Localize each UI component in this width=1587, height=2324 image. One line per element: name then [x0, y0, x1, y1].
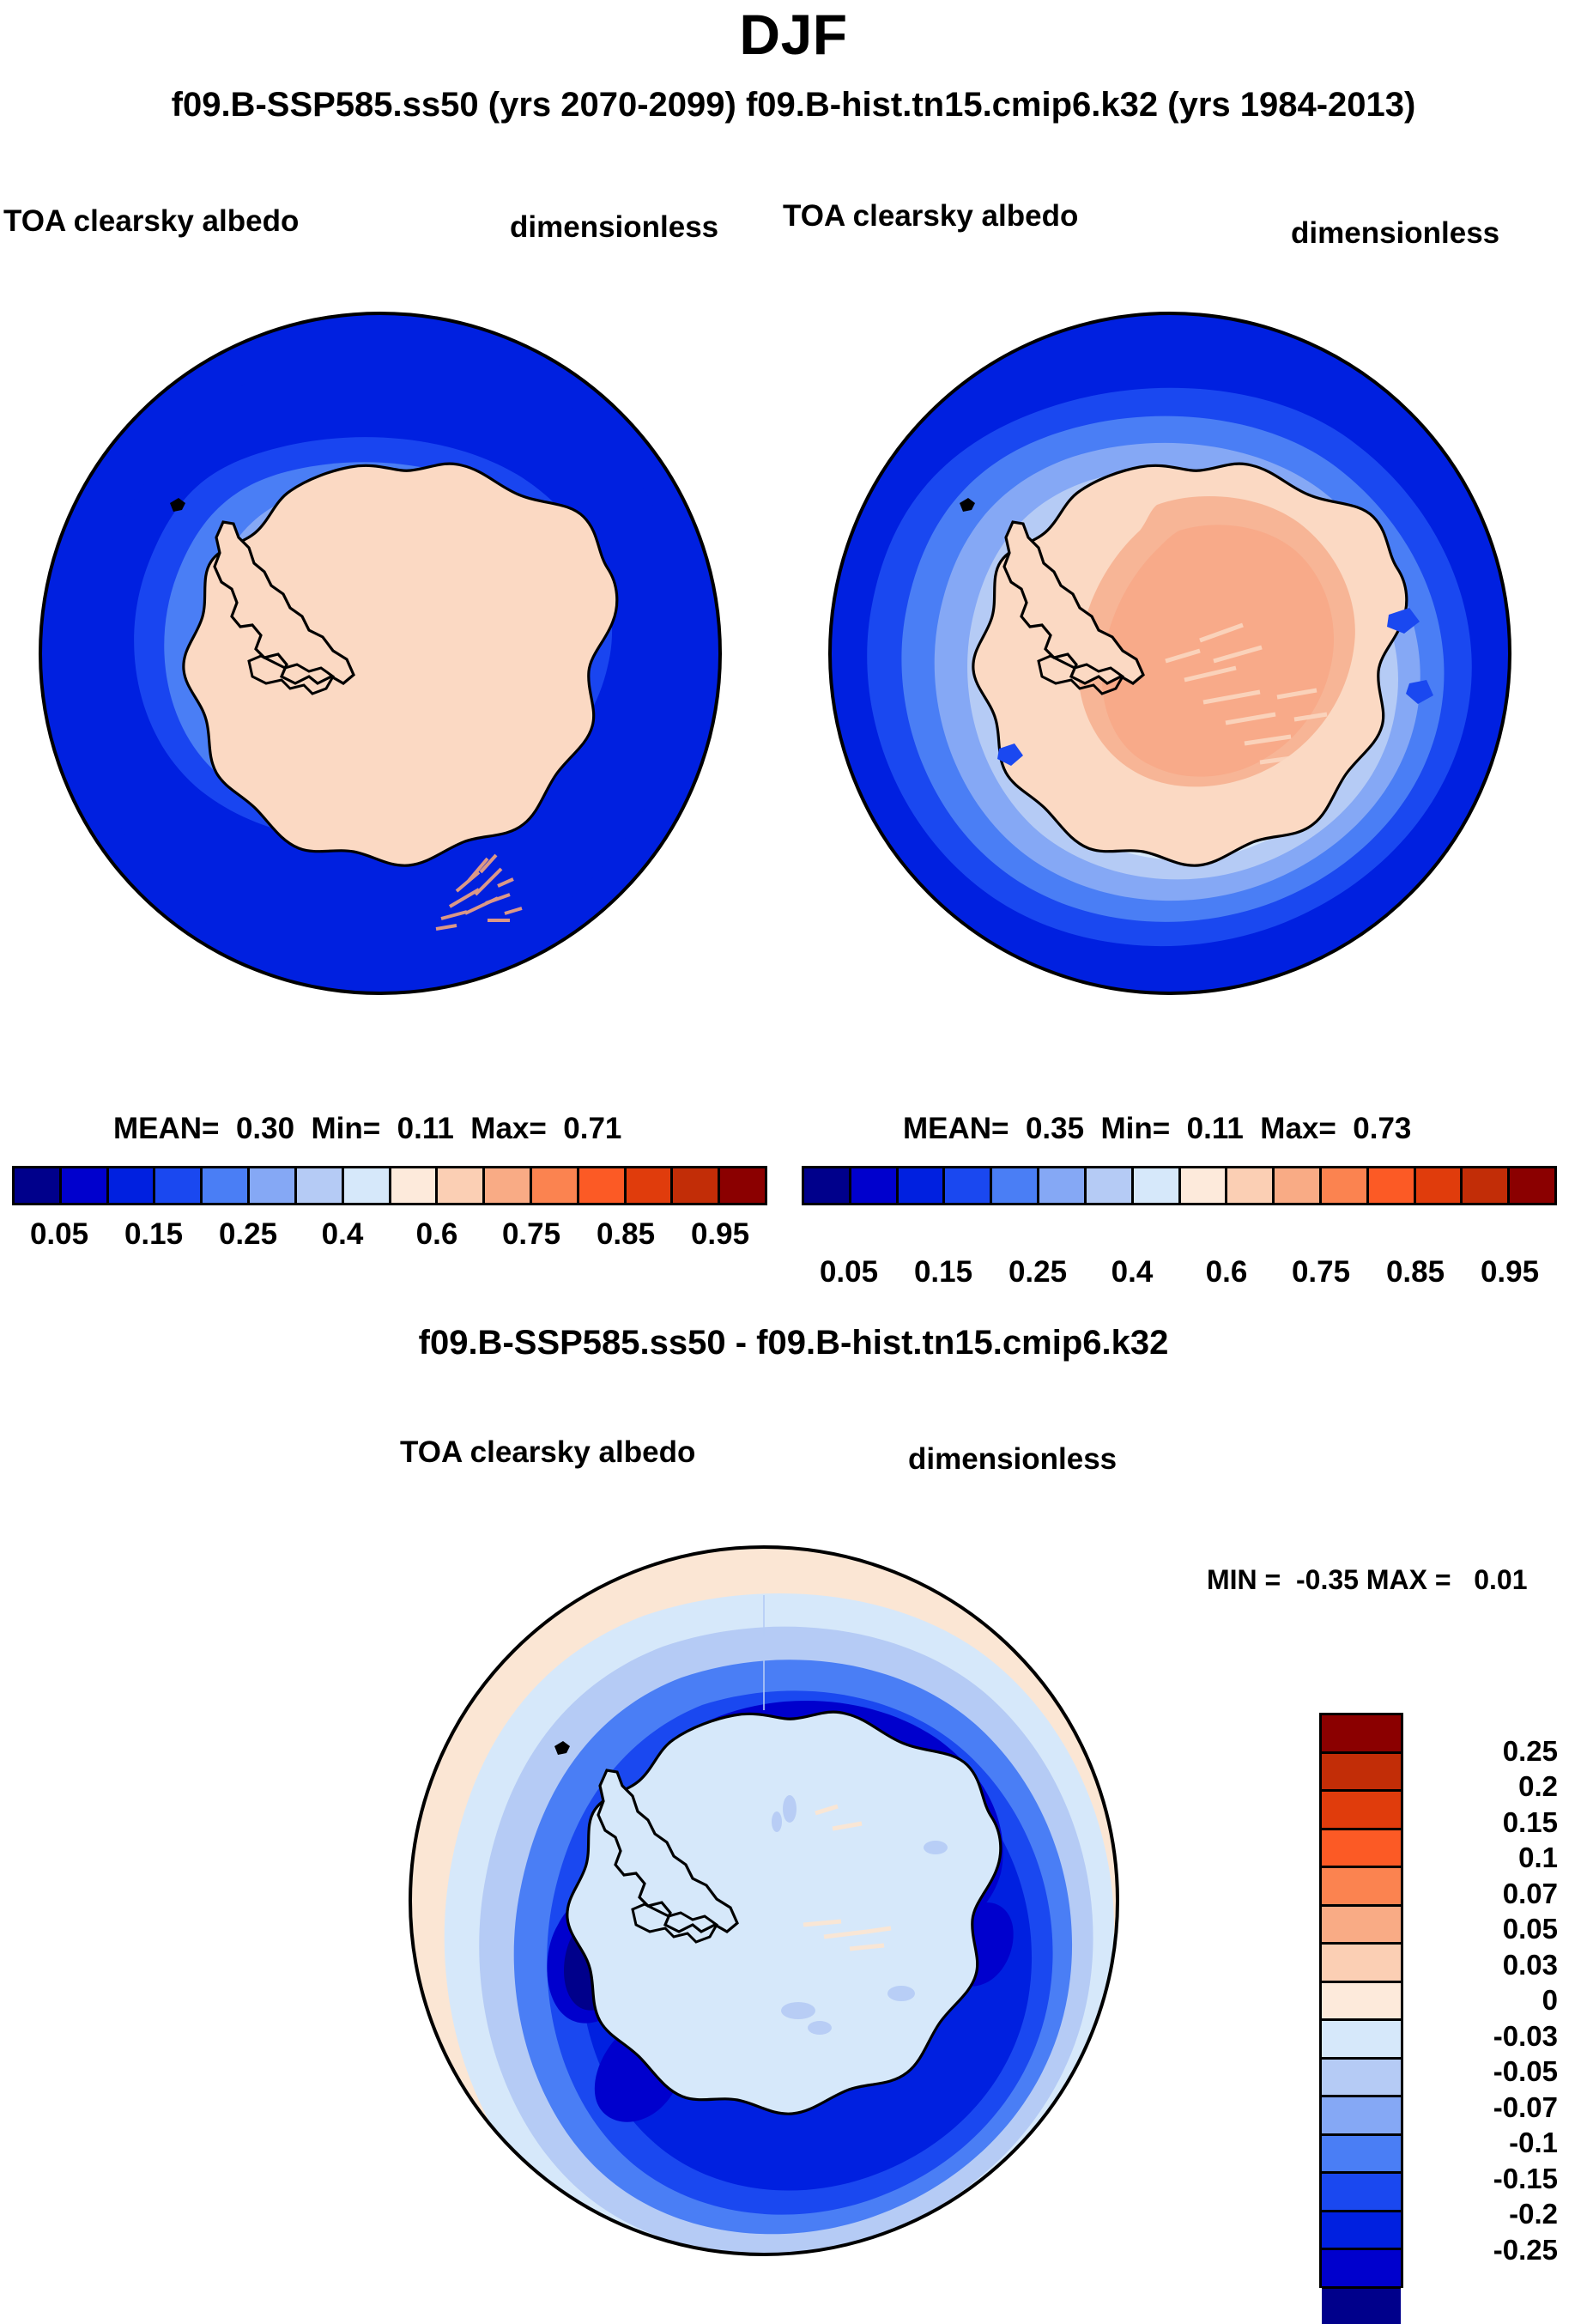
colorbar-swatch: [297, 1168, 344, 1203]
diff-colorbar-tick-label: 0.07: [1416, 1878, 1558, 1910]
diff-colorbar-swatch: [1322, 1868, 1401, 1907]
left-map-field: [7, 280, 754, 1027]
diff-colorbar-tick-label: -0.05: [1416, 2055, 1558, 2088]
left-panel-stats: MEAN= 0.30 Min= 0.11 Max= 0.71: [113, 1112, 621, 1146]
diff-colorbar-tick-label: 0.05: [1416, 1913, 1558, 1945]
diff-colorbar-labels: 0.250.20.150.10.070.050.030-0.03-0.05-0.…: [1416, 1713, 1579, 2285]
diff-variable-label: TOA clearsky albedo: [400, 1435, 695, 1470]
diff-minmax-label: MIN = -0.35 MAX = 0.01: [1207, 1564, 1527, 1596]
colorbar-tick-label: 0.25: [1009, 1255, 1067, 1289]
colorbar-tick-label: 0.4: [1112, 1255, 1154, 1289]
right-panel-stats: MEAN= 0.35 Min= 0.11 Max= 0.73: [903, 1112, 1411, 1146]
colorbar-swatch: [155, 1168, 203, 1203]
colorbar-swatch: [1087, 1168, 1134, 1203]
left-colorbar-labels: 0.050.150.250.40.60.750.850.95: [12, 1217, 767, 1255]
colorbar-swatch: [579, 1168, 627, 1203]
diff-panel-title: f09.B-SSP585.ss50 - f09.B-hist.tn15.cmip…: [0, 1324, 1587, 1362]
colorbar-swatch: [1039, 1168, 1087, 1203]
page-title: DJF: [0, 2, 1587, 67]
right-panel-units-label: dimensionless: [1291, 216, 1499, 251]
diff-colorbar-swatch: [1322, 2021, 1401, 2060]
colorbar-swatch: [1510, 1168, 1554, 1203]
right-map-field: [797, 280, 1543, 1027]
colorbar-tick-label: 0.6: [416, 1217, 458, 1252]
diff-colorbar-swatch: [1322, 1830, 1401, 1869]
colorbar-swatch: [1227, 1168, 1275, 1203]
colorbar-swatch: [804, 1168, 851, 1203]
colorbar-tick-label: 0.05: [30, 1217, 88, 1252]
colorbar-swatch: [1322, 1168, 1369, 1203]
diff-colorbar-tick-label: -0.15: [1416, 2163, 1558, 2195]
left-colorbar[interactable]: [12, 1166, 767, 1205]
diff-colorbar-tick-label: -0.07: [1416, 2091, 1558, 2124]
diff-colorbar-tick-label: 0.1: [1416, 1842, 1558, 1874]
diff-colorbar-tick-label: 0.03: [1416, 1949, 1558, 1981]
diff-colorbar-swatch: [1322, 1792, 1401, 1830]
right-colorbar[interactable]: [802, 1166, 1557, 1205]
right-panel-variable-label: TOA clearsky albedo: [783, 199, 1078, 234]
colorbar-tick-label: 0.75: [1292, 1255, 1350, 1289]
colorbar-swatch: [1181, 1168, 1228, 1203]
diff-colorbar-tick-label: 0.15: [1416, 1806, 1558, 1839]
diff-colorbar-swatch: [1322, 1945, 1401, 1983]
diff-colorbar-swatch: [1322, 1983, 1401, 2022]
colorbar-tick-label: 0.85: [1386, 1255, 1445, 1289]
diff-colorbar-swatch: [1322, 2289, 1401, 2324]
diff-colorbar-swatch: [1322, 2174, 1401, 2212]
diff-colorbar-tick-label: 0.25: [1416, 1735, 1558, 1768]
colorbar-swatch: [673, 1168, 720, 1203]
diff-colorbar-swatch: [1322, 2136, 1401, 2175]
colorbar-swatch: [532, 1168, 579, 1203]
diff-colorbar-tick-label: 0.2: [1416, 1770, 1558, 1803]
colorbar-tick-label: 0.25: [219, 1217, 277, 1252]
colorbar-swatch: [720, 1168, 765, 1203]
diff-colorbar-swatch: [1322, 2212, 1401, 2251]
left-panel-units-label: dimensionless: [510, 210, 718, 245]
diff-colorbar-tick-label: -0.2: [1416, 2198, 1558, 2230]
right-polar-map: [797, 280, 1543, 1027]
colorbar-swatch: [15, 1168, 62, 1203]
left-panel-variable-label: TOA clearsky albedo: [3, 204, 299, 239]
colorbar-tick-label: 0.4: [322, 1217, 364, 1252]
right-colorbar-labels: 0.050.150.250.40.60.750.850.95: [802, 1255, 1557, 1293]
diff-colorbar-swatch: [1322, 2250, 1401, 2289]
colorbar-swatch: [62, 1168, 109, 1203]
diff-colorbar-swatch: [1322, 2097, 1401, 2136]
colorbar-swatch: [899, 1168, 946, 1203]
colorbar-tick-label: 0.15: [124, 1217, 183, 1252]
colorbar-swatch: [1416, 1168, 1463, 1203]
diff-colorbar-swatch: [1322, 1715, 1401, 1754]
diff-colorbar-tick-label: -0.25: [1416, 2234, 1558, 2266]
diff-map-svg: [386, 1513, 1142, 2285]
colorbar-tick-label: 0.05: [820, 1255, 878, 1289]
diff-colorbar-swatch: [1322, 1754, 1401, 1793]
colorbar-swatch: [250, 1168, 297, 1203]
colorbar-swatch: [109, 1168, 156, 1203]
diff-colorbar-swatch: [1322, 1907, 1401, 1945]
colorbar-swatch: [344, 1168, 391, 1203]
colorbar-swatch: [1369, 1168, 1416, 1203]
colorbar-swatch: [1134, 1168, 1181, 1203]
colorbar-tick-label: 0.75: [502, 1217, 560, 1252]
colorbar-swatch: [627, 1168, 674, 1203]
colorbar-tick-label: 0.15: [914, 1255, 972, 1289]
colorbar-tick-label: 0.85: [597, 1217, 655, 1252]
diff-polar-map: [386, 1513, 1142, 2285]
colorbar-swatch: [438, 1168, 485, 1203]
diff-colorbar-tick-label: -0.1: [1416, 2127, 1558, 2159]
diff-map-field: [386, 1513, 1142, 2285]
diff-colorbar[interactable]: [1319, 1713, 1403, 2288]
case-subtitle: f09.B-SSP585.ss50 (yrs 2070-2099) f09.B-…: [0, 86, 1587, 124]
left-map-svg: [7, 280, 754, 1027]
left-polar-map: [7, 280, 754, 1027]
colorbar-swatch: [485, 1168, 532, 1203]
colorbar-tick-label: 0.95: [1481, 1255, 1539, 1289]
colorbar-tick-label: 0.6: [1206, 1255, 1248, 1289]
colorbar-swatch: [992, 1168, 1039, 1203]
colorbar-swatch: [851, 1168, 899, 1203]
colorbar-swatch: [1463, 1168, 1510, 1203]
colorbar-swatch: [945, 1168, 992, 1203]
colorbar-swatch: [1275, 1168, 1322, 1203]
diff-colorbar-tick-label: -0.03: [1416, 2020, 1558, 2053]
diff-units-label: dimensionless: [908, 1442, 1117, 1477]
colorbar-swatch: [203, 1168, 250, 1203]
diff-colorbar-swatch: [1322, 2060, 1401, 2098]
colorbar-swatch: [391, 1168, 439, 1203]
diff-colorbar-tick-label: 0: [1416, 1984, 1558, 2017]
right-map-svg: [797, 280, 1543, 1027]
colorbar-tick-label: 0.95: [691, 1217, 749, 1252]
